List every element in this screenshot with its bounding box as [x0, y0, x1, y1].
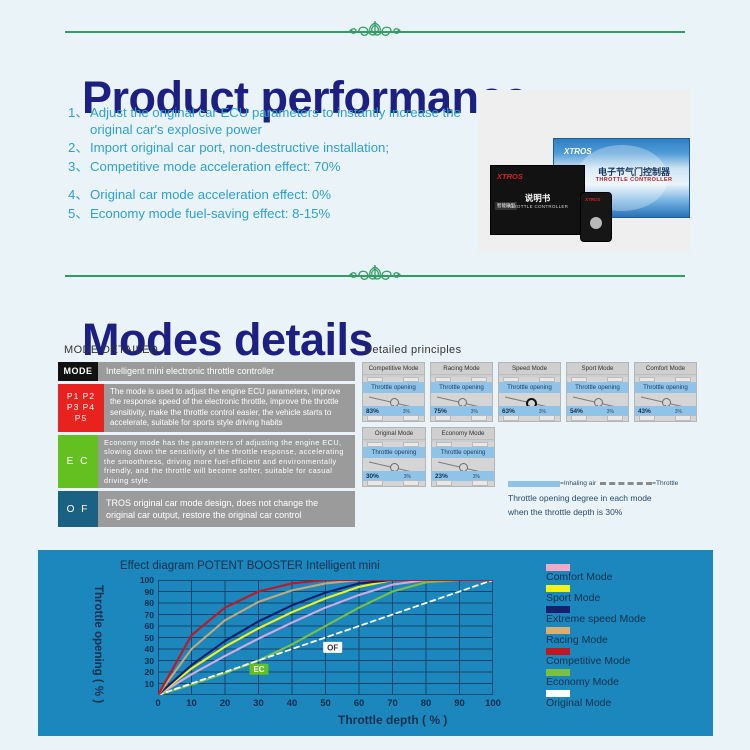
card-opening-value: 23%: [435, 473, 448, 480]
card-notch-icon: [472, 480, 488, 486]
card-title: Comfort Mode: [635, 363, 696, 375]
y-tick-label: 100: [140, 575, 154, 585]
mode-key-cell: MODE: [58, 362, 98, 381]
y-tick-label: 70: [145, 610, 154, 620]
card-notch-icon: [571, 415, 587, 421]
principle-card-row: Competitive ModeThrottle opening83%3%Rac…: [362, 362, 697, 422]
list-item-number: 4、: [68, 187, 90, 204]
card-throttle-opening-label: Throttle opening: [567, 382, 628, 393]
card-notch-icon: [367, 480, 383, 486]
card-notch-icon: [607, 415, 623, 421]
flourish-ornament-icon: [315, 18, 435, 44]
chart-legend-item: Competitive Mode: [546, 648, 726, 668]
principle-card: Racing ModeThrottle opening75%3%: [430, 362, 493, 422]
card-notch-icon: [435, 415, 451, 421]
list-item-text: Original car mode acceleration effect: 0…: [90, 187, 473, 204]
mode-detail-table: MODE Intelligent mini electronic throttl…: [58, 362, 355, 530]
chart-legend: Comfort ModeSport ModeExtreme speed Mode…: [546, 564, 726, 711]
principle-legend: =Inhaling air =Throttle Throttle opening…: [508, 480, 723, 519]
ornament-divider-top: [0, 18, 750, 44]
list-item-number: 5、: [68, 206, 90, 223]
card-throttle-opening-label: Throttle opening: [363, 382, 424, 393]
svg-text:OF: OF: [327, 643, 338, 652]
device-brand-label: XTROS: [585, 197, 601, 202]
inhaling-air-swatch: [508, 481, 560, 487]
list-item-text: Adjust the original car ECU parameters t…: [90, 105, 473, 138]
card-body: Throttle opening83%3%: [363, 375, 424, 421]
mode-key-cell: E C: [58, 435, 98, 489]
card-opening-value: 63%: [502, 408, 515, 415]
y-tick-label: 30: [145, 656, 154, 666]
mode-desc-cell: Economy mode has the parameters of adjus…: [98, 435, 355, 489]
legend-label: Sport Mode: [546, 592, 726, 605]
legend-color-swatch: [546, 669, 570, 676]
manual-brand-label: XTROS: [497, 172, 523, 181]
legend-color-swatch: [546, 564, 570, 571]
card-title: Racing Mode: [431, 363, 492, 375]
product-photo: XTROS 电子节气门控制器 THROTTLE CONTROLLER XTROS…: [478, 90, 690, 252]
card-body: Throttle opening43%3%: [635, 375, 696, 421]
flourish-ornament-icon: [315, 262, 435, 288]
legend-label: Comfort Mode: [546, 571, 726, 584]
legend-color-swatch: [546, 606, 570, 613]
x-tick-label: 0: [155, 698, 160, 709]
legend-label: Competitive Mode: [546, 655, 726, 668]
card-notch-icon: [675, 415, 691, 421]
ornament-divider-middle: [0, 262, 750, 288]
card-title: Original Mode: [363, 428, 425, 440]
legend-note-line1: Throttle opening degree in each mode: [508, 492, 723, 505]
card-notch-icon: [471, 415, 487, 421]
throttle-label: =Throttle: [652, 480, 678, 487]
card-throttle-opening-label: Throttle opening: [635, 382, 696, 393]
card-notch-icon: [639, 415, 655, 421]
subheading-detailed-principles: Detailed principles: [364, 344, 461, 356]
principle-card: Economy ModeThrottle opening23%3%: [431, 427, 495, 487]
x-tick-label: 100: [485, 698, 501, 709]
infographic-page: Product performance 1、 Adjust the origin…: [0, 0, 750, 750]
chart-svg: ECOF: [158, 580, 493, 695]
y-tick-label: 40: [145, 644, 154, 654]
card-throttle-opening-label: Throttle opening: [432, 447, 494, 458]
principle-card-row: Original ModeThrottle opening30%3%Econom…: [362, 427, 697, 487]
box-english-label: THROTTLE CONTROLLER: [584, 177, 684, 183]
card-notch-icon: [367, 415, 383, 421]
x-tick-label: 60: [354, 698, 365, 709]
list-item: 3、 Competitive mode acceleration effect:…: [68, 159, 473, 176]
list-item: 5、 Economy mode fuel-saving effect: 8-15…: [68, 206, 473, 223]
list-item-text: Competitive mode acceleration effect: 70…: [90, 159, 473, 176]
card-body: Throttle opening75%3%: [431, 375, 492, 421]
list-item: 1、 Adjust the original car ECU parameter…: [68, 105, 473, 138]
table-row: P1 P2 P3 P4 P5 The mode is used to adjus…: [58, 384, 355, 432]
x-tick-label: 30: [253, 698, 264, 709]
card-body: Throttle opening23%3%: [432, 440, 494, 486]
legend-label: Economy Mode: [546, 676, 726, 689]
card-opening-value: 75%: [434, 408, 447, 415]
card-title: Competitive Mode: [363, 363, 424, 375]
chart-legend-item: Sport Mode: [546, 585, 726, 605]
x-tick-label: 90: [454, 698, 465, 709]
x-tick-label: 20: [220, 698, 231, 709]
box-brand-label: XTROS: [564, 147, 592, 156]
chart-legend-item: Original Mode: [546, 690, 726, 710]
principle-card: Competitive ModeThrottle opening83%3%: [362, 362, 425, 422]
list-item: 2、 Import original car port, non-destruc…: [68, 140, 473, 157]
y-tick-label: 50: [145, 633, 154, 643]
y-tick-label: 90: [145, 587, 154, 597]
card-notch-icon: [503, 415, 519, 421]
chart-title: Effect diagram POTENT BOOSTER Intelligen…: [120, 560, 380, 572]
mode-desc-cell: TROS original car mode design, does not …: [98, 491, 355, 527]
y-tick-label: 10: [145, 679, 154, 689]
mode-key-cell: O F: [58, 491, 98, 527]
legend-label: Extreme speed Mode: [546, 613, 726, 626]
inhaling-air-label: =Inhaling air: [560, 480, 596, 487]
product-manual: XTROS 说明书 智能微型 THROTTLE CONTROLLER: [490, 165, 585, 235]
effect-diagram-panel: Effect diagram POTENT BOOSTER Intelligen…: [38, 550, 713, 736]
product-device-unit: XTROS: [580, 192, 612, 242]
chart-x-axis-label: Throttle depth ( % ): [338, 713, 447, 727]
y-tick-label: 20: [145, 667, 154, 677]
card-body: Throttle opening63%3%: [499, 375, 560, 421]
y-tick-label: 80: [145, 598, 154, 608]
card-notch-icon: [403, 480, 419, 486]
chart-legend-item: Extreme speed Mode: [546, 606, 726, 626]
list-item-number: 1、: [68, 105, 90, 138]
x-tick-label: 80: [421, 698, 432, 709]
table-row: O F TROS original car mode design, does …: [58, 491, 355, 527]
principle-card: Original ModeThrottle opening30%3%: [362, 427, 426, 487]
page-title-modes-details: Modes details: [82, 314, 373, 366]
chart-x-ticks: 0102030405060708090100: [158, 698, 493, 712]
card-throttle-opening-label: Throttle opening: [363, 447, 425, 458]
chart-plot-area: ECOF: [158, 580, 493, 695]
card-title: Sport Mode: [567, 363, 628, 375]
card-notch-icon: [403, 415, 419, 421]
mode-desc-cell: Intelligent mini electronic throttle con…: [98, 362, 355, 381]
card-opening-value: 30%: [366, 473, 379, 480]
legend-row: =Inhaling air =Throttle: [508, 480, 723, 487]
chart-y-ticks: 102030405060708090100: [106, 580, 154, 695]
device-button-icon: [590, 217, 602, 229]
list-item-text: Economy mode fuel-saving effect: 8-15%: [90, 206, 473, 223]
mode-key-cell: P1 P2 P3 P4 P5: [58, 384, 104, 432]
list-item-text: Import original car port, non-destructiv…: [90, 140, 473, 157]
svg-text:EC: EC: [253, 665, 264, 674]
card-throttle-opening-label: Throttle opening: [499, 382, 560, 393]
mode-desc-cell: The mode is used to adjust the engine EC…: [104, 384, 355, 432]
x-tick-label: 10: [186, 698, 197, 709]
card-body: Throttle opening54%3%: [567, 375, 628, 421]
throttle-line-swatch: [600, 482, 652, 485]
card-title: Economy Mode: [432, 428, 494, 440]
card-opening-value: 43%: [638, 408, 651, 415]
y-tick-label: 60: [145, 621, 154, 631]
principle-card: Sport ModeThrottle opening54%3%: [566, 362, 629, 422]
legend-color-swatch: [546, 690, 570, 697]
table-row: MODE Intelligent mini electronic throttl…: [58, 362, 355, 381]
card-notch-icon: [539, 415, 555, 421]
card-throttle-opening-label: Throttle opening: [431, 382, 492, 393]
card-title: Speed Mode: [499, 363, 560, 375]
legend-color-swatch: [546, 648, 570, 655]
list-item: 4、 Original car mode acceleration effect…: [68, 187, 473, 204]
card-body: Throttle opening30%3%: [363, 440, 425, 486]
list-item-number: 3、: [68, 159, 90, 176]
legend-label: Racing Mode: [546, 634, 726, 647]
principle-card: Comfort ModeThrottle opening43%3%: [634, 362, 697, 422]
card-notch-icon: [436, 480, 452, 486]
legend-color-swatch: [546, 627, 570, 634]
chart-legend-item: Racing Mode: [546, 627, 726, 647]
manual-english-label: THROTTLE CONTROLLER: [491, 204, 584, 209]
chart-y-axis-label: Throttle opening ( % ): [90, 580, 104, 708]
chart-legend-item: Comfort Mode: [546, 564, 726, 584]
table-row: E C Economy mode has the parameters of a…: [58, 435, 355, 489]
principle-card-grid: Competitive ModeThrottle opening83%3%Rac…: [362, 362, 697, 492]
product-feature-list: 1、 Adjust the original car ECU parameter…: [68, 105, 473, 224]
card-opening-value: 83%: [366, 408, 379, 415]
card-opening-value: 54%: [570, 408, 583, 415]
list-item-number: 2、: [68, 140, 90, 157]
subheading-mode-detailed: MODE DETAILED: [64, 344, 158, 356]
legend-note-line2: when the throttle depth is 30%: [508, 506, 723, 519]
legend-color-swatch: [546, 585, 570, 592]
x-tick-label: 70: [387, 698, 398, 709]
legend-label: Original Mode: [546, 697, 726, 710]
x-tick-label: 50: [320, 698, 331, 709]
x-tick-label: 40: [287, 698, 298, 709]
principle-card: Speed ModeThrottle opening63%3%: [498, 362, 561, 422]
chart-legend-item: Economy Mode: [546, 669, 726, 689]
